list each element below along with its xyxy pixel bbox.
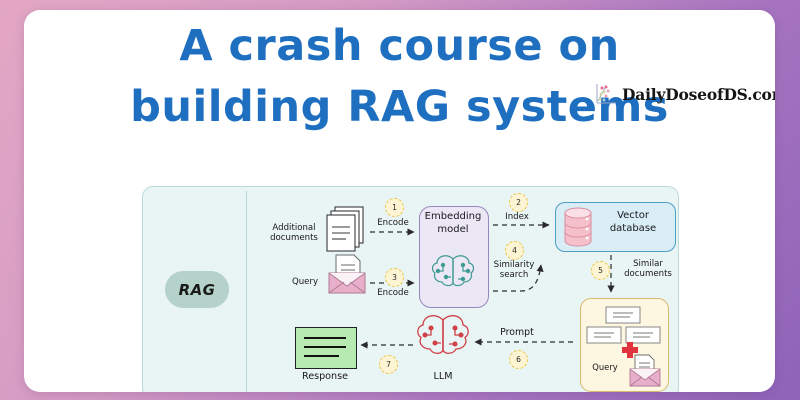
page-title: A crash course on building RAG systems (24, 16, 775, 138)
prompt-bundle-box[interactable] (580, 298, 669, 392)
step-badge-4: 4 (505, 241, 524, 260)
vector-database-label: Vector database (595, 210, 671, 235)
brand-logo-text: DailyDoseofDS.com (622, 85, 775, 104)
step-badge-7: 7 (379, 355, 398, 374)
step-3-label: Encode (371, 288, 415, 298)
additional-documents-label: Additional documents (261, 223, 327, 243)
response-box[interactable] (295, 327, 357, 369)
llm-label: LLM (421, 371, 465, 382)
step-5-label: Similar documents (620, 259, 676, 279)
envelope-document-icon (329, 255, 365, 293)
step-badge-1: 1 (385, 198, 404, 217)
step-6-label: Prompt (493, 327, 541, 338)
poster-root: A crash course on building RAG systems D… (0, 0, 800, 400)
step-badge-5: 5 (591, 261, 610, 280)
step-1-label: Encode (371, 218, 415, 228)
embedding-model-label: Embedding model (419, 211, 487, 236)
diagram-divider (246, 191, 247, 392)
query-input-label: Query (285, 277, 325, 287)
rag-architecture-diagram: RAG Embedding model Vector database (142, 186, 679, 392)
stacked-documents-icon (327, 207, 363, 251)
scatter-plot-icon (594, 82, 618, 106)
step-badge-2: 2 (509, 193, 528, 212)
brand-logo[interactable]: DailyDoseofDS.com (594, 82, 775, 106)
step-badge-6: 6 (509, 350, 528, 369)
step-badge-3: 3 (385, 268, 404, 287)
white-card: A crash course on building RAG systems D… (24, 10, 775, 392)
prompt-bundle-label: Query (585, 363, 625, 373)
circuit-brain-icon-red (418, 316, 468, 354)
response-label: Response (293, 371, 357, 382)
rag-pill: RAG (165, 271, 229, 308)
step-2-label: Index (497, 212, 537, 222)
step-4-label: Similarity search (485, 260, 543, 280)
